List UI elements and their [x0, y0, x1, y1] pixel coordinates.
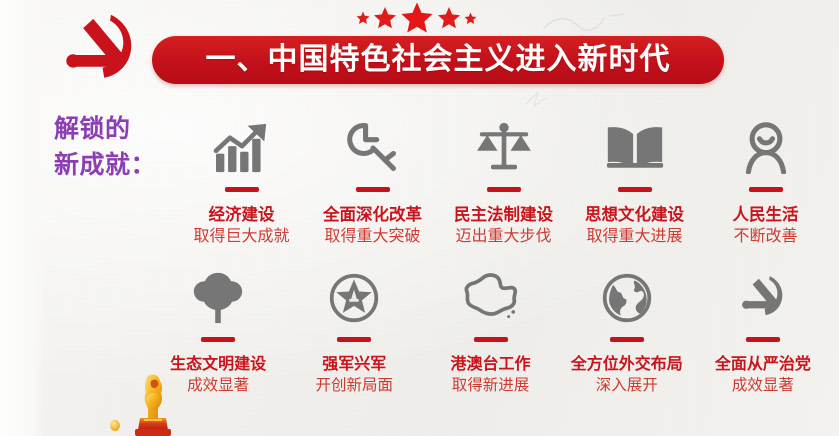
achievement-subtitle: 迈出重大步伐: [455, 228, 551, 246]
person-icon: [733, 118, 799, 178]
achievement-subtitle: 深入展开: [596, 377, 658, 395]
accent-underline: [225, 187, 259, 192]
achievement-title: 强军兴军: [322, 356, 386, 374]
achievement-item: 全方位外交布局 深入展开: [559, 268, 695, 395]
accent-underline: [749, 187, 783, 192]
hammer-sickle-icon: [730, 268, 796, 328]
achievement-item: 人民生活 不断改善: [700, 118, 831, 246]
accent-underline: [356, 187, 390, 192]
achievement-subtitle: 取得新进展: [452, 377, 530, 395]
accent-underline: [474, 337, 508, 342]
achievement-subtitle: 开创新局面: [316, 377, 394, 395]
star-badge-icon: [321, 268, 387, 328]
achievement-item: 全面深化改革 取得重大突破: [307, 118, 438, 246]
achievement-item: 经济建设 取得巨大成就: [176, 118, 307, 246]
achievement-subtitle: 成效显著: [187, 377, 249, 395]
tree-icon: [185, 268, 251, 328]
achievement-item: 思想文化建设 取得重大进展: [569, 118, 700, 246]
star-icon: [400, 1, 434, 35]
achievement-row-1: 经济建设 取得巨大成就 全面深化改革 取得重大突破: [176, 118, 831, 246]
accent-underline: [337, 337, 371, 342]
achievement-subtitle: 取得重大突破: [324, 228, 420, 246]
achievement-item: 全面从严治党 成效显著: [695, 268, 831, 395]
accent-underline: [610, 337, 644, 342]
achievement-row-2: 生态文明建设 成效显著 强军兴军 开创新局面: [150, 268, 831, 395]
achievement-item: 强军兴军 开创新局面: [286, 268, 422, 395]
star-icon: [356, 11, 370, 25]
achievement-title: 经济建设: [209, 206, 275, 225]
infographic-poster: 一、中国特色社会主义进入新时代 解锁的 新成就：: [0, 0, 839, 436]
achievement-subtitle: 取得重大进展: [586, 228, 682, 246]
side-label-line1: 解锁的: [54, 112, 174, 148]
china-map-icon: [458, 268, 524, 328]
side-label: 解锁的 新成就：: [54, 112, 174, 183]
achievement-title: 全方位外交布局: [571, 356, 683, 374]
achievement-title: 人民生活: [733, 206, 799, 225]
star-icon: [464, 12, 477, 25]
decoration-dot: [110, 420, 120, 431]
left-edge-band: [0, 0, 46, 436]
hammer-sickle-icon: [58, 8, 142, 92]
golden-lion-statue: [126, 372, 184, 436]
stars-decoration: [336, 0, 496, 36]
open-book-icon: [602, 118, 668, 178]
achievement-subtitle: 成效显著: [732, 377, 794, 395]
globe-icon: [594, 268, 660, 328]
star-icon: [437, 6, 461, 30]
star-icon: [373, 6, 397, 30]
side-label-line2: 新成就：: [54, 148, 174, 184]
accent-underline: [201, 337, 235, 342]
achievement-subtitle: 取得巨大成就: [193, 228, 289, 246]
balance-scales-icon: [471, 118, 537, 178]
background-scribble: [540, 8, 630, 38]
achievement-item: 民主法制建设 迈出重大步伐: [438, 118, 569, 246]
achievement-subtitle: 不断改善: [733, 228, 797, 246]
growth-chart-icon: [209, 118, 275, 178]
achievement-title: 思想文化建设: [585, 206, 684, 225]
achievement-title: 生态文明建设: [170, 356, 266, 374]
page-title: 一、中国特色社会主义进入新时代: [206, 45, 671, 75]
accent-underline: [618, 187, 652, 192]
achievement-item: 港澳台工作 取得新进展: [422, 268, 558, 395]
background-scribble: [520, 86, 560, 112]
achievement-title: 全面从严治党: [715, 356, 811, 374]
wrench-icon: [340, 118, 406, 178]
achievement-title: 全面深化改革: [323, 206, 422, 225]
accent-underline: [487, 187, 521, 192]
title-banner: 一、中国特色社会主义进入新时代: [152, 36, 724, 84]
achievement-title: 民主法制建设: [454, 206, 553, 225]
accent-underline: [746, 337, 780, 342]
achievement-title: 港澳台工作: [451, 356, 531, 374]
